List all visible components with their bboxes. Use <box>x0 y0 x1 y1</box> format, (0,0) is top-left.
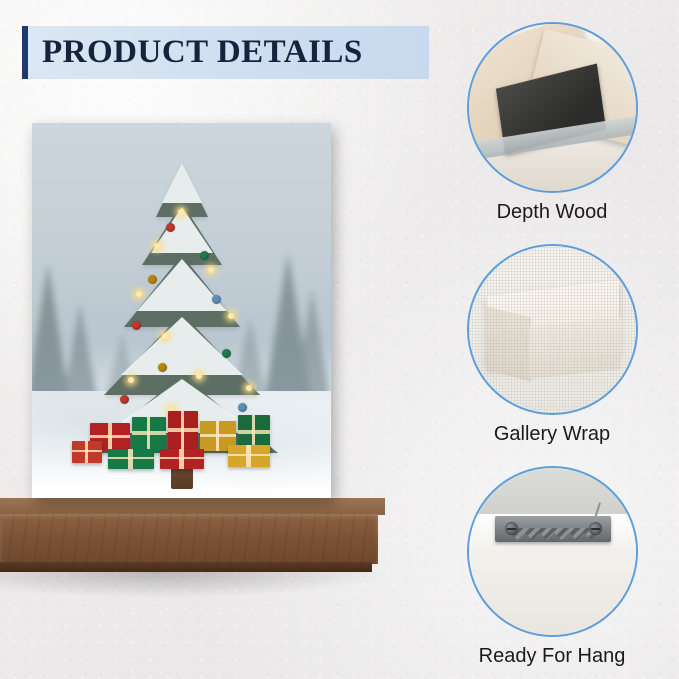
product-canvas-image <box>32 123 331 498</box>
feature-ready-for-hang: Ready For Hang <box>454 466 650 668</box>
canvas-corner-depth-icon <box>467 22 638 193</box>
product-details-page: PRODUCT DETAILS <box>0 0 679 679</box>
shelf-front-face <box>0 514 378 564</box>
title-banner: PRODUCT DETAILS <box>22 26 429 79</box>
sawtooth-hanger-icon <box>467 466 638 637</box>
feature-depth-wood: Depth Wood <box>454 22 650 224</box>
feature-label-gallery-wrap: Gallery Wrap <box>454 423 650 446</box>
feature-label-depth-wood: Depth Wood <box>454 201 650 224</box>
page-title: PRODUCT DETAILS <box>28 34 363 71</box>
shelf-top-surface <box>0 498 385 515</box>
shelf-bottom-edge <box>0 562 372 572</box>
feature-label-ready-for-hang: Ready For Hang <box>454 645 650 668</box>
canvas-corner-wrap-icon <box>467 244 638 415</box>
wooden-shelf <box>0 498 385 572</box>
winter-scene <box>32 123 331 498</box>
feature-gallery-wrap: Gallery Wrap <box>454 244 650 446</box>
shelf-shadow <box>0 572 392 598</box>
